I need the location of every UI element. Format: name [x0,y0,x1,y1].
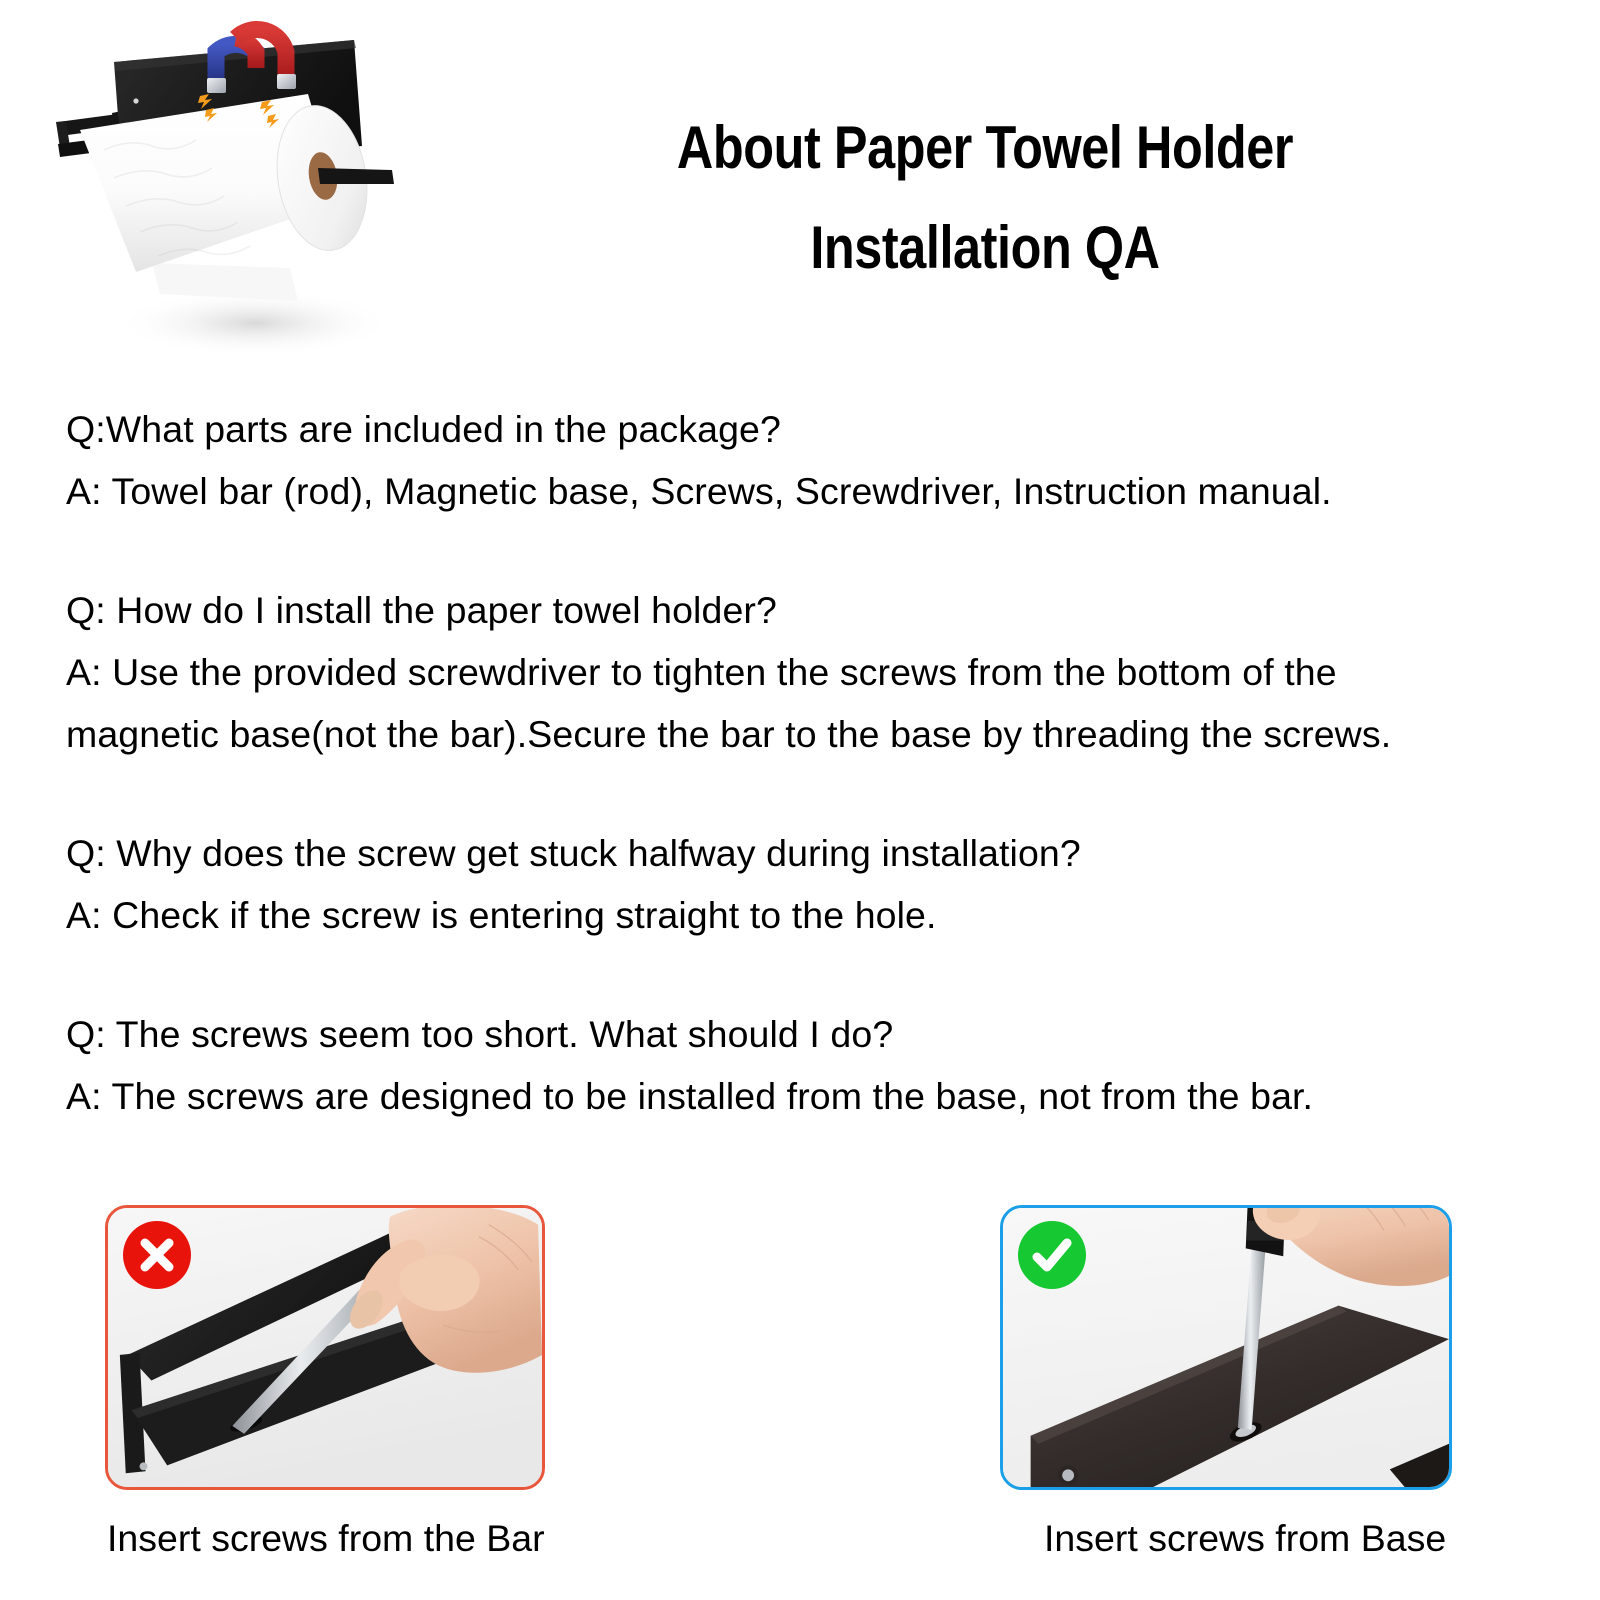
qa-question: Q: The screws seem too short. What shoul… [66,1003,1536,1065]
towel-bar-rod [318,168,394,184]
magnet-tip-right [277,74,296,89]
check-icon [1018,1221,1086,1289]
caption-correct: Insert screws from Base [1044,1515,1446,1561]
title-line-2: Installation QA [552,198,1417,298]
page-title: About Paper Towel Holder Installation QA [470,98,1500,298]
installed-screw [140,1462,148,1470]
qa-question: Q: How do I install the paper towel hold… [66,579,1536,641]
title-line-1: About Paper Towel Holder [552,98,1417,198]
bracket-screw-hole [133,98,138,103]
comparison-panel-incorrect [105,1205,545,1490]
cross-icon [123,1221,191,1289]
magnet-tip-left [207,78,226,93]
product-shadow [115,289,395,357]
qa-answer: A: The screws are designed to be install… [66,1065,1536,1127]
paper-towel-holder-illustration [40,18,440,363]
qa-answer-line-2: magnetic base(not the bar).Secure the ba… [66,703,1536,765]
corner-screw [1062,1469,1074,1481]
comparison-panel-correct [1000,1205,1452,1490]
qa-question: Q: Why does the screw get stuck halfway … [66,822,1536,884]
qa-section: Q:What parts are included in the package… [66,398,1536,1127]
qa-answer-line-1: A: Use the provided screwdriver to tight… [66,641,1536,703]
qa-group-install: Q: How do I install the paper towel hold… [66,579,1536,765]
qa-question: Q:What parts are included in the package… [66,398,1536,460]
caption-incorrect: Insert screws from the Bar [107,1515,545,1561]
qa-answer: A: Check if the screw is entering straig… [66,884,1536,946]
qa-group-stuck-screw: Q: Why does the screw get stuck halfway … [66,822,1536,946]
qa-group-short-screws: Q: The screws seem too short. What shoul… [66,1003,1536,1127]
comparison-section: Insert screws from the Bar Insert screws… [0,1205,1600,1595]
qa-answer: A: Towel bar (rod), Magnetic base, Screw… [66,460,1536,522]
qa-group-parts: Q:What parts are included in the package… [66,398,1536,522]
product-hero-image [40,18,440,363]
